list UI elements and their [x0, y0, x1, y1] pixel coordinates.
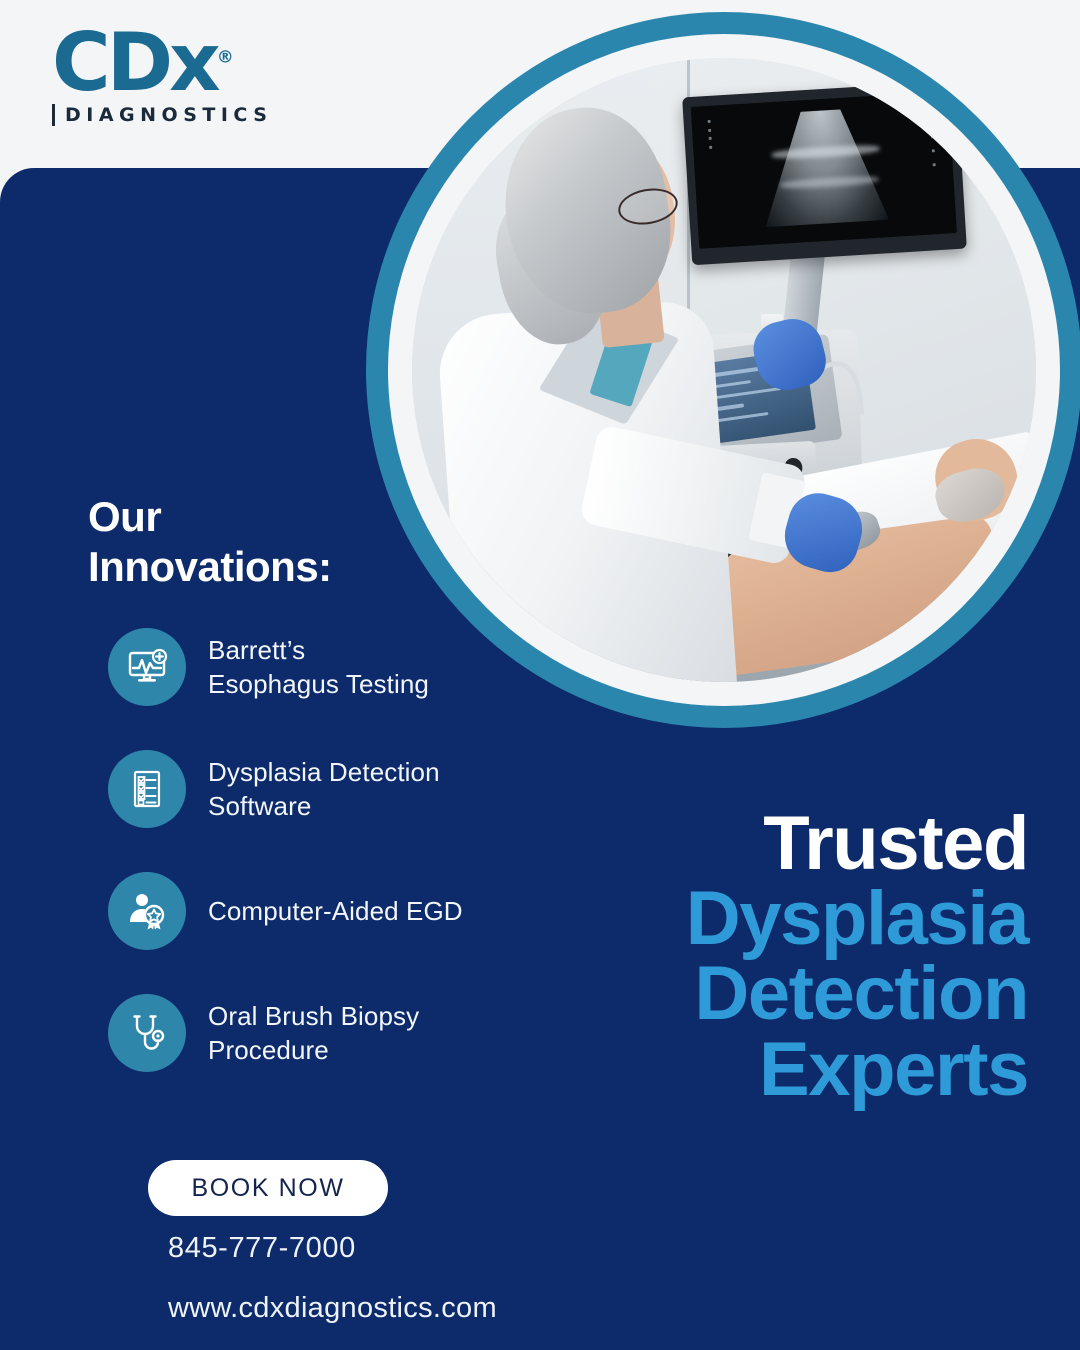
screen-tick [708, 137, 711, 140]
screen-tick [708, 146, 711, 149]
section-title-line-1: Our [88, 492, 332, 542]
promotional-poster: CDx® DIAGNOSTICS Our Innovations: [0, 0, 1080, 1350]
headline-line-1: Trusted [686, 806, 1028, 881]
page-title: Trusted Dysplasia Detection Experts [686, 806, 1028, 1107]
headline-line-4: Experts [686, 1032, 1028, 1107]
person-award-icon [108, 872, 186, 950]
feature-2-line-1: Dysplasia Detection [208, 755, 440, 789]
headline-line-2: Dysplasia [686, 881, 1028, 956]
feature-1-line-2: Esophagus Testing [208, 667, 429, 701]
screen-tick [707, 129, 710, 132]
checklist-document-icon [108, 750, 186, 828]
list-item[interactable]: Barrett’s Esophagus Testing [108, 628, 578, 706]
section-title-line-2: Innovations: [88, 542, 332, 592]
list-item-label: Computer-Aided EGD [208, 894, 463, 928]
feature-3-line-1: Computer-Aided EGD [208, 894, 463, 928]
screen-tick [932, 163, 935, 166]
phone-number[interactable]: 845-777-7000 [168, 1232, 356, 1265]
list-item-label: Dysplasia Detection Software [208, 755, 440, 824]
book-now-button[interactable]: BOOK NOW [148, 1160, 388, 1216]
cdx-diagnostics-logo[interactable]: CDx® DIAGNOSTICS [52, 26, 272, 126]
list-item-label: Barrett’s Esophagus Testing [208, 633, 429, 702]
section-title: Our Innovations: [88, 492, 332, 591]
list-item[interactable]: Dysplasia Detection Software [108, 750, 578, 828]
website-url[interactable]: www.cdxdiagnostics.com [168, 1292, 497, 1325]
innovations-list: Barrett’s Esophagus Testing [108, 628, 578, 1116]
screen-tick [930, 135, 933, 138]
feature-4-line-2: Procedure [208, 1033, 419, 1067]
registered-trademark-icon: ® [217, 47, 234, 67]
list-item[interactable]: Computer-Aided EGD [108, 872, 578, 950]
monitor-screen [690, 92, 956, 249]
logo-wordmark: CDx® [52, 26, 234, 100]
feature-2-line-2: Software [208, 789, 440, 823]
feature-1-line-1: Barrett’s [208, 633, 429, 667]
feature-4-line-1: Oral Brush Biopsy [208, 999, 419, 1033]
screen-tick [931, 149, 934, 152]
monitor-heartbeat-icon [108, 628, 186, 706]
ultrasound-monitor [682, 81, 966, 266]
stethoscope-icon [108, 994, 186, 1072]
ultrasound-scan-image [758, 107, 889, 228]
screen-tick [707, 120, 710, 123]
logo-mark-text: CDx [52, 16, 217, 109]
list-item[interactable]: Oral Brush Biopsy Procedure [108, 994, 578, 1072]
list-item-label: Oral Brush Biopsy Procedure [208, 999, 419, 1068]
headline-line-3: Detection [686, 956, 1028, 1031]
left-content-column: Our Innovations: Barrett’s [0, 0, 640, 1350]
